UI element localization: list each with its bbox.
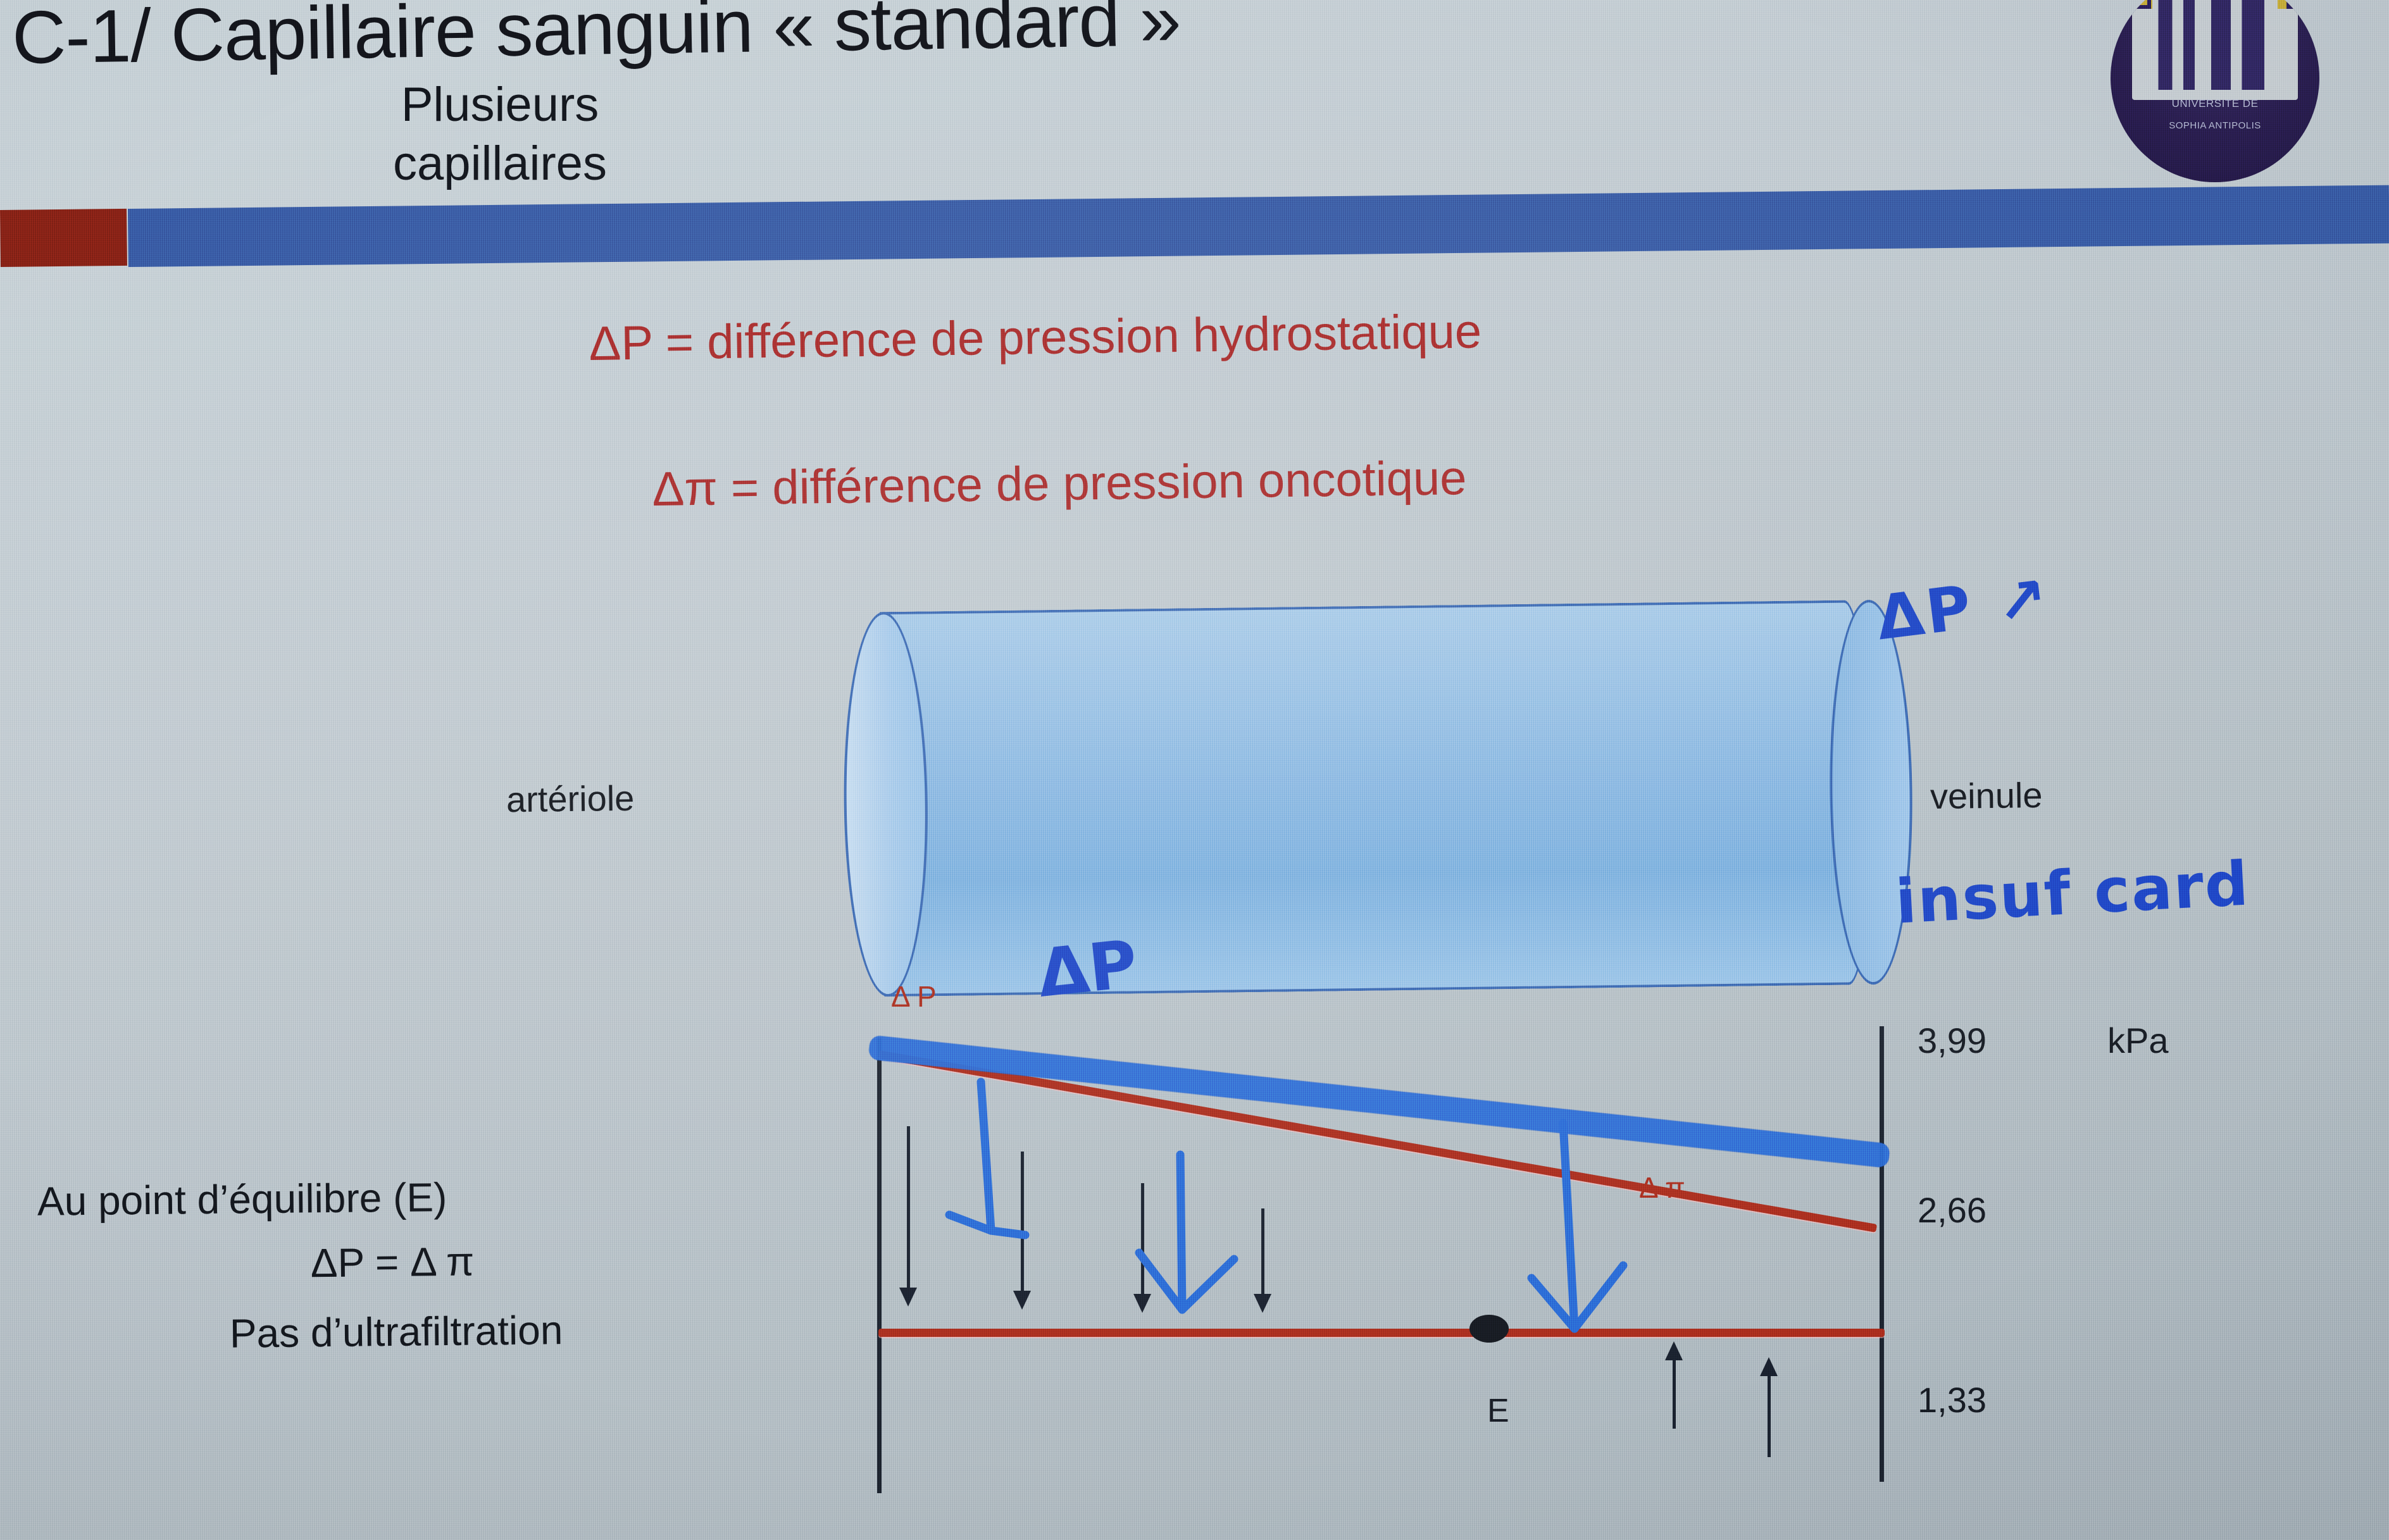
logo-caption-line3: SOPHIA ANTIPOLIS xyxy=(2111,120,2319,131)
conclusion-line-3: Pas d’ultrafiltration xyxy=(39,1303,862,1359)
scale-value-low: 1,33 xyxy=(1918,1379,1987,1420)
handwritten-highlight-line xyxy=(868,1035,1890,1168)
label-veinule: veinule xyxy=(1930,774,2043,817)
scale-unit: kPa xyxy=(2107,1020,2169,1061)
equation-delta-pi: Δπ = différence de pression oncotique xyxy=(652,450,1467,517)
graph-label-delta-p: Δ P xyxy=(891,979,937,1014)
header-accent-bar-red xyxy=(0,209,127,267)
conclusion-block: Au point d’équilibre (E) ΔP = Δ π Pas d’… xyxy=(37,1169,862,1359)
handwritten-arrow-1-icon xyxy=(949,1082,991,1231)
handwritten-arrow-3-tail xyxy=(1575,1265,1623,1329)
logo-glyph-icon xyxy=(2147,0,2286,90)
equilibrium-point-label: E xyxy=(1487,1392,1509,1430)
cylinder-label: Plusieurs capillaires xyxy=(120,76,880,193)
logo-caption-line1: UNIVERSITE DE xyxy=(2111,97,2319,110)
capillary-cylinder xyxy=(842,600,1897,992)
logo-corner-left-icon xyxy=(2116,0,2152,9)
pressure-graph: Δ P Δ π E xyxy=(867,1012,1899,1493)
handwritten-arrow-1-tail xyxy=(991,1231,1025,1235)
label-arteriole: artériole xyxy=(506,778,635,820)
logo-corner-right-icon xyxy=(2278,0,2314,9)
equilibrium-point-marker xyxy=(1469,1315,1509,1343)
conclusion-line-1: Au point d’équilibre (E) xyxy=(37,1169,861,1225)
conclusion-line-2: ΔP = Δ π xyxy=(38,1234,861,1289)
handwritten-arrow-2-tail xyxy=(1182,1259,1234,1310)
graph-axis-right xyxy=(1880,1026,1884,1482)
scale-value-high: 3,99 xyxy=(1918,1020,1987,1061)
cylinder-body xyxy=(880,600,1874,997)
graph-label-delta-pi: Δ π xyxy=(1639,1171,1685,1205)
handwritten-arrow-3-icon xyxy=(1531,1123,1575,1329)
graph-line-delta-pi xyxy=(878,1329,1885,1337)
handwritten-delta-p-graph: ΔP xyxy=(1034,925,1141,1012)
cylinder-label-line2: capillaires xyxy=(120,135,880,194)
graph-axis-left xyxy=(877,1038,882,1493)
cylinder-label-line1: Plusieurs xyxy=(120,76,880,135)
scale-value-mid: 2,66 xyxy=(1918,1189,1987,1231)
handwritten-arrow-2-icon xyxy=(1139,1155,1182,1310)
